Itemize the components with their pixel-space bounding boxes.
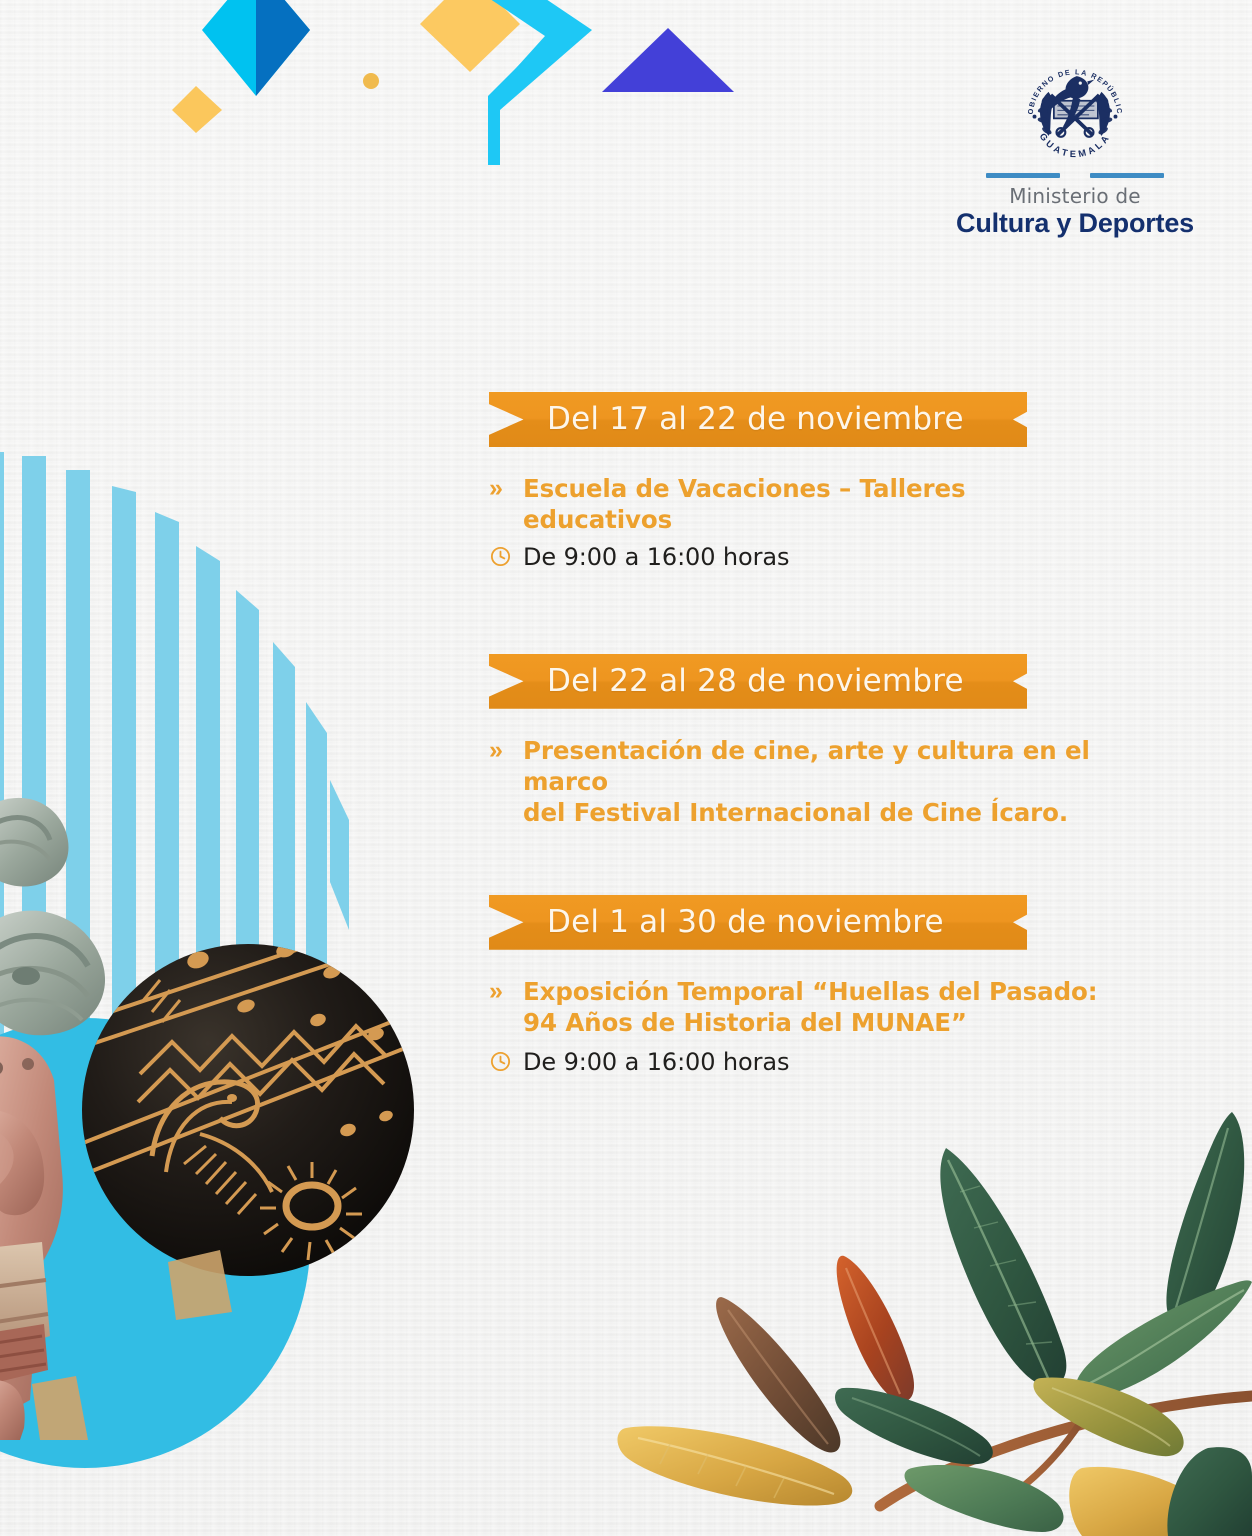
double-chevron-icon: » <box>489 473 523 501</box>
triangle-indigo-icon <box>602 28 734 92</box>
dot-amber-icon <box>363 73 379 89</box>
brand-rule-right <box>1090 173 1164 178</box>
decor-geometry-top <box>0 0 780 190</box>
agenda-item-text: De 9:00 a 16:00 horas <box>523 542 789 572</box>
agenda-item: De 9:00 a 16:00 horas <box>489 1047 1109 1077</box>
agenda-item: » Exposición Temporal “Huellas del Pasad… <box>489 976 1109 1039</box>
block-spacer <box>489 578 1109 654</box>
ficus-leaf-branch-decor <box>612 1076 1252 1536</box>
date-banner-label: Del 17 al 22 de noviembre <box>489 404 964 435</box>
agenda-block: Del 22 al 28 de noviembre » Presentación… <box>489 654 1109 829</box>
double-chevron-icon: » <box>489 735 523 763</box>
black-painted-gourd-vessel-artifact <box>80 920 430 1320</box>
date-banner: Del 17 al 22 de noviembre <box>489 392 1027 447</box>
brand-divider-rules <box>986 172 1164 180</box>
date-banner-label: Del 22 al 28 de noviembre <box>489 666 964 697</box>
agenda-item-text: Escuela de Vacaciones – Talleres educati… <box>523 473 1109 536</box>
agenda-item: » Presentación de cine, arte y cultura e… <box>489 735 1109 829</box>
ministry-brand-lockup: GOBIERNO DE LA REPÚBLICA GUATEMALA <box>960 62 1190 237</box>
clock-icon <box>489 542 523 568</box>
agenda-item-line: 94 Años de Historia del MUNAE” <box>523 1007 1097 1038</box>
brand-rule-left <box>986 173 1060 178</box>
agenda-item-line: De 9:00 a 16:00 horas <box>523 542 789 572</box>
agenda-items: » Presentación de cine, arte y cultura e… <box>489 735 1109 829</box>
poster-canvas: GOBIERNO DE LA REPÚBLICA GUATEMALA <box>0 0 1252 1536</box>
diamond-cyan-navy-split-icon <box>202 0 310 96</box>
date-banner: Del 1 al 30 de noviembre <box>489 895 1027 950</box>
agenda-list: Del 17 al 22 de noviembre » Escuela de V… <box>489 392 1109 1083</box>
ministry-name-line2: Cultura y Deportes <box>956 209 1194 237</box>
diamond-amber-small-icon <box>172 86 222 133</box>
ministry-name-line1: Ministerio de <box>1009 186 1141 206</box>
block-spacer <box>489 835 1109 895</box>
double-chevron-icon: » <box>489 976 523 1004</box>
agenda-item-line: del Festival Internacional de Cine Ícaro… <box>523 797 1109 828</box>
agenda-item-line: Escuela de Vacaciones – Talleres educati… <box>523 473 1109 536</box>
guatemala-national-emblem-icon: GOBIERNO DE LA REPÚBLICA GUATEMALA <box>1019 62 1131 164</box>
diamond-amber-large-icon <box>420 0 520 72</box>
agenda-item-text: Presentación de cine, arte y cultura en … <box>523 735 1109 829</box>
agenda-item-text: De 9:00 a 16:00 horas <box>523 1047 789 1077</box>
left-artwork <box>0 430 430 1536</box>
agenda-block: Del 1 al 30 de noviembre » Exposición Te… <box>489 895 1109 1077</box>
clock-icon <box>489 1047 523 1073</box>
agenda-item-line: De 9:00 a 16:00 horas <box>523 1047 789 1077</box>
date-banner-label: Del 1 al 30 de noviembre <box>489 907 944 938</box>
agenda-items: » Escuela de Vacaciones – Talleres educa… <box>489 473 1109 572</box>
agenda-items: » Exposición Temporal “Huellas del Pasad… <box>489 976 1109 1077</box>
agenda-item: » Escuela de Vacaciones – Talleres educa… <box>489 473 1109 536</box>
agenda-item-text: Exposición Temporal “Huellas del Pasado:… <box>523 976 1097 1039</box>
agenda-block: Del 17 al 22 de noviembre » Escuela de V… <box>489 392 1109 572</box>
agenda-item-line: Exposición Temporal “Huellas del Pasado: <box>523 976 1097 1007</box>
date-banner: Del 22 al 28 de noviembre <box>489 654 1027 709</box>
agenda-item-line: Presentación de cine, arte y cultura en … <box>523 735 1109 798</box>
agenda-item: De 9:00 a 16:00 horas <box>489 542 1109 572</box>
